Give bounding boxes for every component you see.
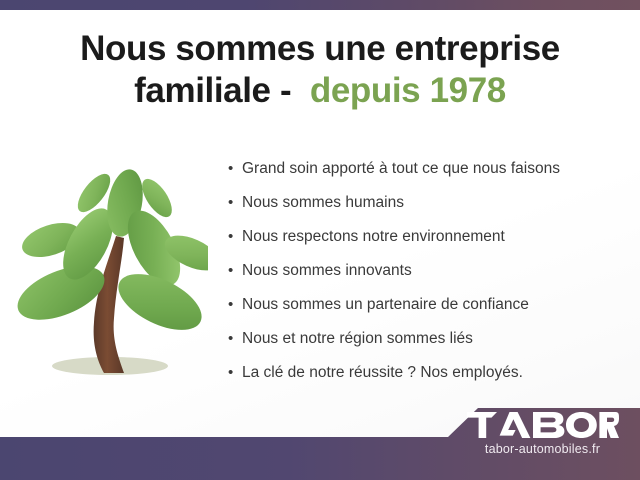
- brand-tagline: tabor-automobiles.fr: [455, 442, 630, 457]
- bullet-dot-icon: •: [228, 254, 242, 288]
- list-item-label: Grand soin apporté à tout ce que nous fa…: [242, 152, 560, 186]
- bullet-dot-icon: •: [228, 322, 242, 356]
- list-item: • Nous et notre région sommes liés: [228, 322, 628, 356]
- bullet-dot-icon: •: [228, 288, 242, 322]
- headline-line-2: familiale - depuis 1978: [40, 70, 600, 112]
- list-item-label: Nous respectons notre environnement: [242, 220, 505, 254]
- list-item: • La clé de notre réussite ? Nos employé…: [228, 356, 628, 390]
- tree-illustration: [12, 150, 208, 388]
- bullet-dot-icon: •: [228, 356, 242, 390]
- bullet-dot-icon: •: [228, 152, 242, 186]
- list-item: • Nous sommes innovants: [228, 254, 628, 288]
- headline-line-1: Nous sommes une entreprise: [40, 28, 600, 70]
- tabor-wordmark-icon: [467, 412, 619, 439]
- benefits-list: • Grand soin apporté à tout ce que nous …: [228, 152, 628, 390]
- bullet-dot-icon: •: [228, 186, 242, 220]
- list-item-label: Nous et notre région sommes liés: [242, 322, 473, 356]
- headline-accent-year: depuis 1978: [310, 71, 506, 110]
- list-item-label: Nous sommes un partenaire de confiance: [242, 288, 529, 322]
- slide-canvas: Nous sommes une entreprise familiale - d…: [0, 0, 640, 480]
- list-item-label: Nous sommes innovants: [242, 254, 412, 288]
- list-item: • Nous respectons notre environnement: [228, 220, 628, 254]
- list-item: • Grand soin apporté à tout ce que nous …: [228, 152, 628, 186]
- headline-line-2-black: familiale -: [134, 71, 310, 110]
- page-title: Nous sommes une entreprise familiale - d…: [40, 28, 600, 112]
- list-item-label: La clé de notre réussite ? Nos employés.: [242, 356, 523, 390]
- list-item-label: Nous sommes humains: [242, 186, 404, 220]
- bullet-dot-icon: •: [228, 220, 242, 254]
- list-item: • Nous sommes un partenaire de confiance: [228, 288, 628, 322]
- footer-brand-bar: tabor-automobiles.fr: [0, 400, 640, 480]
- top-accent-bar: [0, 0, 640, 10]
- brand-logo[interactable]: tabor-automobiles.fr: [455, 412, 630, 457]
- list-item: • Nous sommes humains: [228, 186, 628, 220]
